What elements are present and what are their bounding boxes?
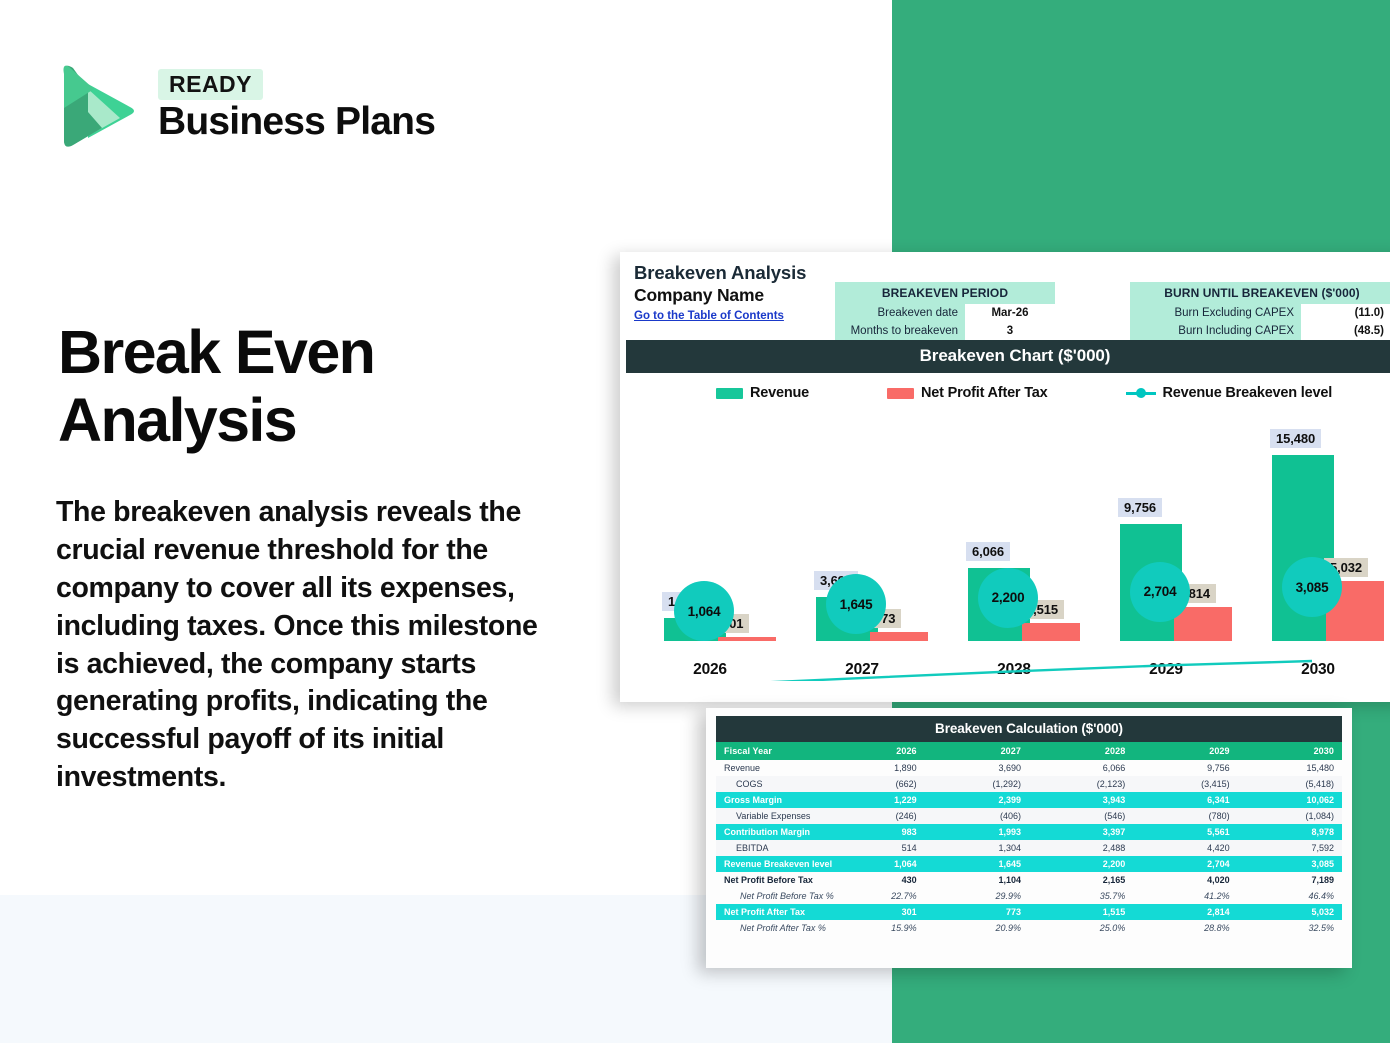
breakeven-calculation-table: Fiscal Year20262027202820292030 Revenue1… <box>716 742 1342 936</box>
x-axis-label-2028: 2028 <box>938 661 1090 679</box>
row-value: 15,480 <box>1238 760 1342 776</box>
npat-bar[interactable] <box>718 637 776 641</box>
revenue-value-label: 6,066 <box>966 542 1010 561</box>
column-header-2028: 2028 <box>1029 742 1133 760</box>
row-value: 10,062 <box>1238 792 1342 808</box>
x-axis-label-2026: 2026 <box>634 661 786 679</box>
row-value: 32.5% <box>1238 920 1342 936</box>
table-row: Contribution Margin9831,9933,3975,5618,9… <box>716 824 1342 840</box>
row-value: 1,515 <box>1029 904 1133 920</box>
row-value: 301 <box>820 904 924 920</box>
table-row: Net Profit Before Tax4301,1042,1654,0207… <box>716 872 1342 888</box>
row-value: (5,418) <box>1238 776 1342 792</box>
row-value: 4,020 <box>1133 872 1237 888</box>
burn-excluding-capex-label: Burn Excluding CAPEX <box>1130 304 1301 322</box>
legend-label-revenue: Revenue <box>750 385 809 401</box>
row-value: 28.8% <box>1133 920 1237 936</box>
npat-swatch-icon <box>887 388 914 399</box>
brand-name: Business Plans <box>158 102 435 143</box>
row-value: (1,084) <box>1238 808 1342 824</box>
chart-group-2030: 15,4805,0323,085 <box>1248 409 1388 641</box>
breakeven-period-table: BREAKEVEN PERIOD Breakeven date Mar-26 M… <box>835 282 1055 340</box>
row-value: 2,165 <box>1029 872 1133 888</box>
breakeven-date-value[interactable]: Mar-26 <box>965 304 1055 322</box>
row-label: COGS <box>716 776 820 792</box>
chart-group-2026: 1,8903011,064 <box>640 409 780 641</box>
row-value: 3,943 <box>1029 792 1133 808</box>
row-value: 3,690 <box>925 760 1029 776</box>
breakeven-line-swatch-icon <box>1126 387 1156 399</box>
table-row: Variable Expenses(246)(406)(546)(780)(1,… <box>716 808 1342 824</box>
row-label: Revenue Breakeven level <box>716 856 820 872</box>
chart-plot-area: 20262027202820292030 1,8903011,0643,6907… <box>634 409 1390 681</box>
row-value: 22.7% <box>820 888 924 904</box>
row-value: 2,488 <box>1029 840 1133 856</box>
chart-group-2027: 3,6907731,645 <box>792 409 932 641</box>
row-value: 1,993 <box>925 824 1029 840</box>
chart-legend: Revenue Net Profit After Tax Revenue Bre… <box>620 385 1390 401</box>
row-value: 29.9% <box>925 888 1029 904</box>
row-label: Net Profit After Tax <box>716 904 820 920</box>
column-header-2030: 2030 <box>1238 742 1342 760</box>
revenue-value-label: 15,480 <box>1270 429 1321 448</box>
legend-label-breakeven: Revenue Breakeven level <box>1163 385 1333 401</box>
table-row: Revenue1,8903,6906,0669,75615,480 <box>716 760 1342 776</box>
breakeven-marker[interactable]: 1,064 <box>674 581 734 641</box>
row-value: 1,064 <box>820 856 924 872</box>
table-of-contents-link[interactable]: Go to the Table of Contents <box>634 310 784 322</box>
column-header-2026: 2026 <box>820 742 924 760</box>
legend-label-npat: Net Profit After Tax <box>921 385 1048 401</box>
table-row: Net Profit After Tax %15.9%20.9%25.0%28.… <box>716 920 1342 936</box>
breakeven-calculation-panel: Breakeven Calculation ($'000) Fiscal Yea… <box>706 708 1352 968</box>
play-triangle-logo-icon <box>58 62 140 150</box>
chart-group-2028: 6,0661,5152,200 <box>944 409 1084 641</box>
brand-logo[interactable]: READY Business Plans <box>58 62 435 150</box>
breakeven-marker[interactable]: 1,645 <box>826 574 886 634</box>
row-value: 20.9% <box>925 920 1029 936</box>
burn-until-breakeven-table: BURN UNTIL BREAKEVEN ($'000) Burn Exclud… <box>1130 282 1390 340</box>
table-row: Months to breakeven 3 <box>835 322 1055 340</box>
row-value: 8,978 <box>1238 824 1342 840</box>
row-value: 7,189 <box>1238 872 1342 888</box>
row-value: (546) <box>1029 808 1133 824</box>
row-value: 15.9% <box>820 920 924 936</box>
revenue-swatch-icon <box>716 388 743 399</box>
burn-including-capex-value[interactable]: (48.5) <box>1301 322 1390 340</box>
row-value: 3,085 <box>1238 856 1342 872</box>
column-header-2029: 2029 <box>1133 742 1237 760</box>
row-value: (780) <box>1133 808 1237 824</box>
page-description: The breakeven analysis reveals the cruci… <box>56 494 548 797</box>
breakeven-period-header: BREAKEVEN PERIOD <box>835 282 1055 304</box>
row-label: Contribution Margin <box>716 824 820 840</box>
breakeven-marker[interactable]: 2,200 <box>978 568 1038 628</box>
revenue-value-label: 9,756 <box>1118 498 1162 517</box>
sheet-header: Breakeven Analysis Company Name Go to th… <box>620 252 1390 340</box>
chart-title: Breakeven Chart ($'000) <box>626 340 1390 373</box>
row-value: 1,104 <box>925 872 1029 888</box>
burn-header: BURN UNTIL BREAKEVEN ($'000) <box>1130 282 1390 304</box>
breakeven-date-label: Breakeven date <box>835 304 965 322</box>
row-value: 2,704 <box>1133 856 1237 872</box>
row-value: 514 <box>820 840 924 856</box>
row-label: Gross Margin <box>716 792 820 808</box>
row-label: Net Profit Before Tax <box>716 872 820 888</box>
row-value: 2,399 <box>925 792 1029 808</box>
breakeven-marker[interactable]: 3,085 <box>1282 557 1342 617</box>
row-value: 1,229 <box>820 792 924 808</box>
row-value: 46.4% <box>1238 888 1342 904</box>
row-value: (246) <box>820 808 924 824</box>
calculation-table-title: Breakeven Calculation ($'000) <box>716 716 1342 742</box>
burn-excluding-capex-value[interactable]: (11.0) <box>1301 304 1390 322</box>
row-value: (406) <box>925 808 1029 824</box>
row-value: 983 <box>820 824 924 840</box>
x-axis-label-2030: 2030 <box>1242 661 1390 679</box>
table-row: Burn Excluding CAPEX (11.0) <box>1130 304 1390 322</box>
npat-bar[interactable] <box>1174 607 1232 641</box>
row-value: 41.2% <box>1133 888 1237 904</box>
row-value: (2,123) <box>1029 776 1133 792</box>
x-axis-label-2027: 2027 <box>786 661 938 679</box>
table-row: EBITDA5141,3042,4884,4207,592 <box>716 840 1342 856</box>
row-label: Net Profit Before Tax % <box>716 888 820 904</box>
row-value: 3,397 <box>1029 824 1133 840</box>
table-row: Gross Margin1,2292,3993,9436,34110,062 <box>716 792 1342 808</box>
row-value: 25.0% <box>1029 920 1133 936</box>
x-axis-label-2029: 2029 <box>1090 661 1242 679</box>
row-value: 1,645 <box>925 856 1029 872</box>
row-label: Net Profit After Tax % <box>716 920 820 936</box>
row-value: 35.7% <box>1029 888 1133 904</box>
table-row: Net Profit After Tax3017731,5152,8145,03… <box>716 904 1342 920</box>
legend-item-revenue-breakeven-level[interactable]: Revenue Breakeven level <box>1126 385 1333 401</box>
row-value: (3,415) <box>1133 776 1237 792</box>
row-label: EBITDA <box>716 840 820 856</box>
row-value: 773 <box>925 904 1029 920</box>
row-value: (662) <box>820 776 924 792</box>
row-value: 2,200 <box>1029 856 1133 872</box>
months-to-breakeven-label: Months to breakeven <box>835 322 965 340</box>
legend-item-revenue[interactable]: Revenue <box>716 385 809 401</box>
table-row: Breakeven date Mar-26 <box>835 304 1055 322</box>
chart-group-2029: 9,7562,8142,704 <box>1096 409 1236 641</box>
row-value: 430 <box>820 872 924 888</box>
chart-x-axis: 20262027202820292030 <box>634 661 1390 679</box>
row-value: 7,592 <box>1238 840 1342 856</box>
column-header-fiscal-year: Fiscal Year <box>716 742 820 760</box>
row-value: 5,561 <box>1133 824 1237 840</box>
brand-badge: READY <box>158 69 263 100</box>
table-row: Burn Including CAPEX (48.5) <box>1130 322 1390 340</box>
sheet-title: Breakeven Analysis <box>634 262 1390 284</box>
row-value: 6,341 <box>1133 792 1237 808</box>
npat-bar[interactable] <box>870 632 928 641</box>
table-header-row: Fiscal Year20262027202820292030 <box>716 742 1342 760</box>
column-header-2027: 2027 <box>925 742 1029 760</box>
table-row: COGS(662)(1,292)(2,123)(3,415)(5,418) <box>716 776 1342 792</box>
row-value: 9,756 <box>1133 760 1237 776</box>
row-value: 5,032 <box>1238 904 1342 920</box>
row-value: 1,304 <box>925 840 1029 856</box>
row-label: Revenue <box>716 760 820 776</box>
row-value: 6,066 <box>1029 760 1133 776</box>
breakeven-analysis-panel: Breakeven Analysis Company Name Go to th… <box>620 252 1390 702</box>
page-title: Break Even Analysis <box>58 318 558 455</box>
row-value: 2,814 <box>1133 904 1237 920</box>
table-row: Revenue Breakeven level1,0641,6452,2002,… <box>716 856 1342 872</box>
legend-item-net-profit-after-tax[interactable]: Net Profit After Tax <box>887 385 1048 401</box>
breakeven-marker[interactable]: 2,704 <box>1130 562 1190 622</box>
table-row: Net Profit Before Tax %22.7%29.9%35.7%41… <box>716 888 1342 904</box>
row-value: 1,890 <box>820 760 924 776</box>
row-label: Variable Expenses <box>716 808 820 824</box>
burn-including-capex-label: Burn Including CAPEX <box>1130 322 1301 340</box>
row-value: 4,420 <box>1133 840 1237 856</box>
months-to-breakeven-value[interactable]: 3 <box>965 322 1055 340</box>
npat-bar[interactable] <box>1022 623 1080 641</box>
row-value: (1,292) <box>925 776 1029 792</box>
